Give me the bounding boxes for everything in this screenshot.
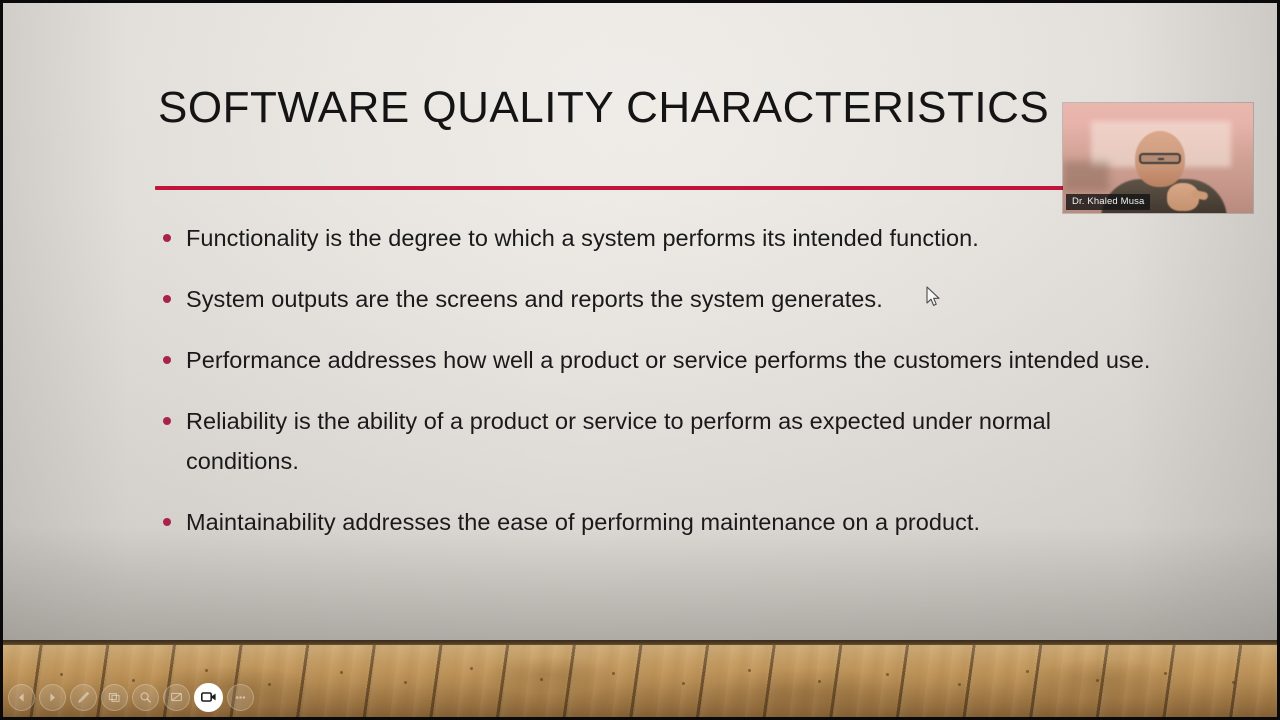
letterbox-edge-top	[0, 0, 1280, 3]
zoom-button[interactable]	[132, 684, 159, 711]
magnifier-icon	[139, 691, 152, 704]
blank-screen-button[interactable]	[163, 684, 190, 711]
pen-icon	[77, 691, 90, 704]
slide-grid-button[interactable]	[101, 684, 128, 711]
triangle-left-icon	[16, 692, 27, 703]
list-item: Functionality is the degree to which a s…	[158, 218, 1168, 258]
previous-slide-button[interactable]	[8, 684, 35, 711]
list-item: Performance addresses how well a product…	[158, 340, 1168, 380]
participant-name-label: Dr. Khaled Musa	[1066, 194, 1150, 210]
presenter-toolbar[interactable]	[8, 680, 254, 714]
list-item: Reliability is the ability of a product …	[158, 401, 1168, 481]
slide-content: SOFTWARE QUALITY CHARACTERISTICS Functio…	[0, 0, 1280, 642]
webcam-room-panel-secondary	[1063, 161, 1109, 191]
pen-annotate-button[interactable]	[70, 684, 97, 711]
grid-icon	[108, 691, 121, 704]
camera-button[interactable]	[194, 683, 223, 712]
glasses-icon	[1139, 153, 1181, 164]
triangle-right-icon	[47, 692, 58, 703]
webcam-video-overlay[interactable]: Dr. Khaled Musa	[1063, 103, 1253, 213]
page-title: SOFTWARE QUALITY CHARACTERISTICS	[158, 84, 1058, 132]
presentation-stage: SOFTWARE QUALITY CHARACTERISTICS Functio…	[0, 0, 1280, 720]
next-slide-button[interactable]	[39, 684, 66, 711]
title-underline-rule	[155, 186, 1085, 190]
bullet-list: Functionality is the degree to which a s…	[158, 218, 1168, 563]
blank-screen-icon	[170, 691, 183, 704]
ellipsis-icon	[234, 691, 247, 704]
video-camera-icon	[201, 691, 217, 703]
more-options-button[interactable]	[227, 684, 254, 711]
list-item: System outputs are the screens and repor…	[158, 279, 1168, 319]
letterbox-edge-left	[0, 0, 3, 720]
list-item: Maintainability addresses the ease of pe…	[158, 502, 1168, 542]
